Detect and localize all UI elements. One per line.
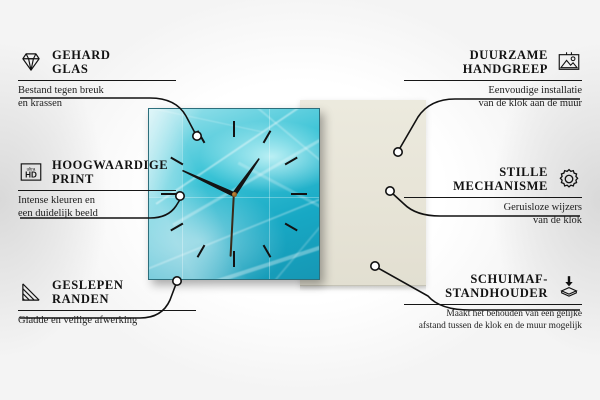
- divider: [404, 197, 582, 198]
- feature-title-line1: GESLEPEN: [52, 278, 124, 292]
- bevelled-edge-icon: [18, 279, 44, 305]
- divider: [404, 80, 582, 81]
- feature-stille-mechanisme[interactable]: STILLE MECHANISME Geruisloze wijzers van…: [404, 165, 582, 227]
- picture-frame-icon: [556, 49, 582, 75]
- feature-desc-line1: Bestand tegen breuk: [18, 85, 104, 96]
- divider: [18, 190, 176, 191]
- clock-tick: [197, 130, 206, 143]
- feature-title-line1: GEHARD: [52, 48, 110, 62]
- infographic-canvas: GEHARD GLAS Bestand tegen breuk en krass…: [0, 0, 600, 400]
- feature-desc-line1: Gladde en veilige afwerking: [18, 315, 137, 326]
- gear-icon: [556, 166, 582, 192]
- feature-desc-line2: van de klok: [533, 215, 582, 226]
- feature-schuimafstandhouder[interactable]: SCHUIMAF- STANDHOUDER Maakt het behouden…: [404, 272, 582, 332]
- divider: [18, 310, 196, 311]
- clock-tick: [263, 245, 272, 258]
- feature-desc-line1: Eenvoudige installatie: [488, 85, 582, 96]
- clock-second-hand: [230, 195, 235, 257]
- svg-text:HD: HD: [25, 171, 37, 180]
- feature-geslepen-randen[interactable]: GESLEPEN RANDEN Gladde en veilige afwerk…: [18, 278, 196, 328]
- feature-title-line2: GLAS: [52, 62, 88, 76]
- ultra-hd-icon: ultra HD: [18, 159, 44, 185]
- feature-desc-line2: afstand tussen de klok en de muur mogeli…: [419, 321, 582, 331]
- feature-title-line1: DUURZAME: [470, 48, 548, 62]
- clock-tick: [285, 223, 298, 232]
- feature-title-line1: SCHUIMAF-: [470, 272, 548, 286]
- feature-title-line2: MECHANISME: [453, 179, 548, 193]
- feature-title-line2: PRINT: [52, 172, 94, 186]
- feature-title-line2: HANDGREEP: [463, 62, 548, 76]
- feature-duurzame-handgreep[interactable]: DUURZAME HANDGREEP Eenvoudige installati…: [404, 48, 582, 110]
- feature-desc-line1: Geruisloze wijzers: [504, 202, 582, 213]
- feature-gehard-glas[interactable]: GEHARD GLAS Bestand tegen breuk en krass…: [18, 48, 196, 110]
- feature-desc-line2: van de klok aan de muur: [478, 98, 582, 109]
- clock-tick: [233, 251, 235, 267]
- feature-title-line2: RANDEN: [52, 292, 109, 306]
- feature-title-line1: STILLE: [499, 165, 548, 179]
- press-down-icon: [556, 273, 582, 299]
- clock-center-cap: [232, 192, 237, 197]
- feature-title-line1: HOOGWAARDIGE: [52, 158, 168, 172]
- clock-tick: [233, 121, 235, 137]
- feature-desc-line2: een duidelijk beeld: [18, 208, 98, 219]
- feature-desc-line1: Intense kleuren en: [18, 195, 95, 206]
- feature-hoogwaardige-print[interactable]: ultra HD HOOGWAARDIGE PRINT Intense kleu…: [18, 158, 196, 220]
- feature-desc-line2: en krassen: [18, 98, 62, 109]
- divider: [404, 304, 582, 305]
- divider: [18, 80, 176, 81]
- clock-tick: [291, 193, 307, 195]
- diamond-icon: [18, 49, 44, 75]
- feature-desc-line1: Maakt het behouden van een gelijke: [446, 309, 582, 319]
- feature-title-line2: STANDHOUDER: [445, 286, 548, 300]
